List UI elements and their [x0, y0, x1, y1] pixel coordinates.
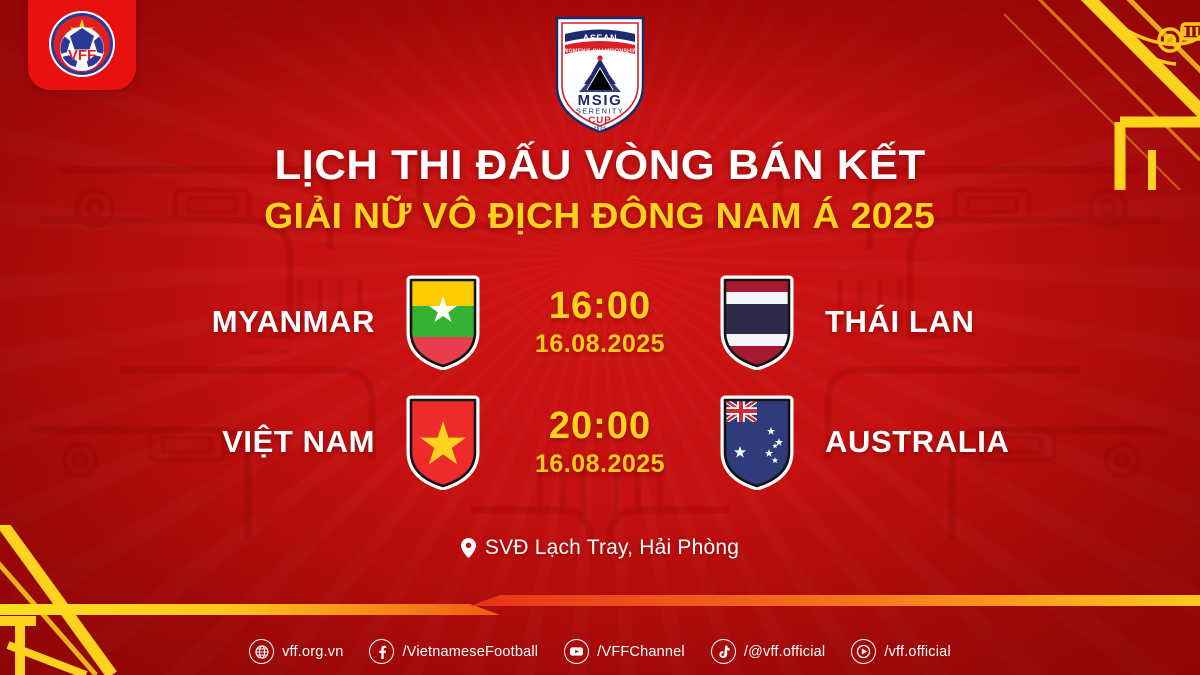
match-row: VIỆT NAM 20:00 16.08.2025 — [0, 382, 1200, 502]
poster-canvas: VFF ASEAN WOMEN'S CHAMPIONSHIP MSIG SERE… — [0, 0, 1200, 675]
venue-row: SVĐ Lạch Tray, Hải Phòng — [0, 536, 1200, 560]
match-row: MYANMAR 16:00 — [0, 262, 1200, 382]
social-link-facebook[interactable]: /VietnameseFootball — [369, 639, 538, 664]
location-pin-icon — [461, 538, 476, 558]
venue-name: SVĐ Lạch Tray, Hải Phòng — [485, 536, 739, 560]
match-center-info: 16:00 16.08.2025 — [511, 287, 689, 357]
social-link-tiktok[interactable]: /@vff.official — [711, 639, 825, 664]
footer-gradient-line — [0, 595, 1200, 619]
australia-flag-shield — [719, 394, 795, 490]
social-label: /VFFChannel — [597, 644, 685, 660]
vff-logo-badge[interactable]: VFF — [28, 0, 136, 90]
home-team-flag-slot — [375, 274, 511, 370]
footer-band: vff.org.vn /VietnameseFootball /VFF — [0, 595, 1200, 675]
tiktok-icon — [711, 639, 736, 664]
myanmar-flag-shield — [405, 274, 481, 370]
social-link-website[interactable]: vff.org.vn — [249, 639, 343, 664]
svg-text:CUP: CUP — [588, 115, 611, 126]
social-label: vff.org.vn — [282, 644, 343, 660]
zalo-play-icon — [851, 639, 876, 664]
youtube-icon — [564, 639, 589, 664]
home-team-flag-slot — [375, 394, 511, 490]
tournament-logo: ASEAN WOMEN'S CHAMPIONSHIP MSIG SERENITY… — [551, 12, 649, 136]
vietnam-flag-shield — [405, 394, 481, 490]
kickoff-date: 16.08.2025 — [535, 332, 665, 357]
page-title: LỊCH THI ĐẤU VÒNG BÁN KẾT — [274, 142, 925, 187]
thailand-flag-shield — [719, 274, 795, 370]
kickoff-time: 20:00 — [549, 407, 651, 445]
home-team-name: MYANMAR — [123, 304, 375, 340]
away-team-name: THÁI LAN — [825, 304, 1077, 340]
facebook-icon — [369, 639, 394, 664]
kickoff-time: 16:00 — [549, 287, 651, 325]
away-team-flag-slot — [689, 274, 825, 370]
social-label: /vff.official — [884, 644, 951, 660]
match-center-info: 20:00 16.08.2025 — [511, 407, 689, 477]
social-link-youtube[interactable]: /VFFChannel — [564, 639, 685, 664]
svg-text:WOMEN'S CHAMPIONSHIP: WOMEN'S CHAMPIONSHIP — [563, 49, 637, 55]
social-links: vff.org.vn /VietnameseFootball /VFF — [0, 639, 1200, 664]
header-titles: LỊCH THI ĐẤU VÒNG BÁN KẾT GIẢI NỮ VÔ ĐỊC… — [0, 142, 1200, 236]
social-label: /@vff.official — [744, 644, 825, 660]
svg-text:VFF: VFF — [68, 47, 96, 64]
match-list: MYANMAR 16:00 — [0, 262, 1200, 502]
globe-icon — [249, 639, 274, 664]
page-subtitle: GIẢI NỮ VÔ ĐỊCH ĐÔNG NAM Á 2025 — [264, 196, 935, 236]
vff-logo: VFF — [46, 8, 118, 80]
kickoff-date: 16.08.2025 — [535, 452, 665, 477]
away-team-flag-slot — [689, 394, 825, 490]
home-team-name: VIỆT NAM — [123, 424, 375, 460]
social-link-zalo-play[interactable]: /vff.official — [851, 639, 951, 664]
away-team-name: AUSTRALIA — [825, 424, 1077, 460]
svg-text:2025: 2025 — [593, 126, 606, 132]
social-label: /VietnameseFootball — [402, 644, 538, 660]
